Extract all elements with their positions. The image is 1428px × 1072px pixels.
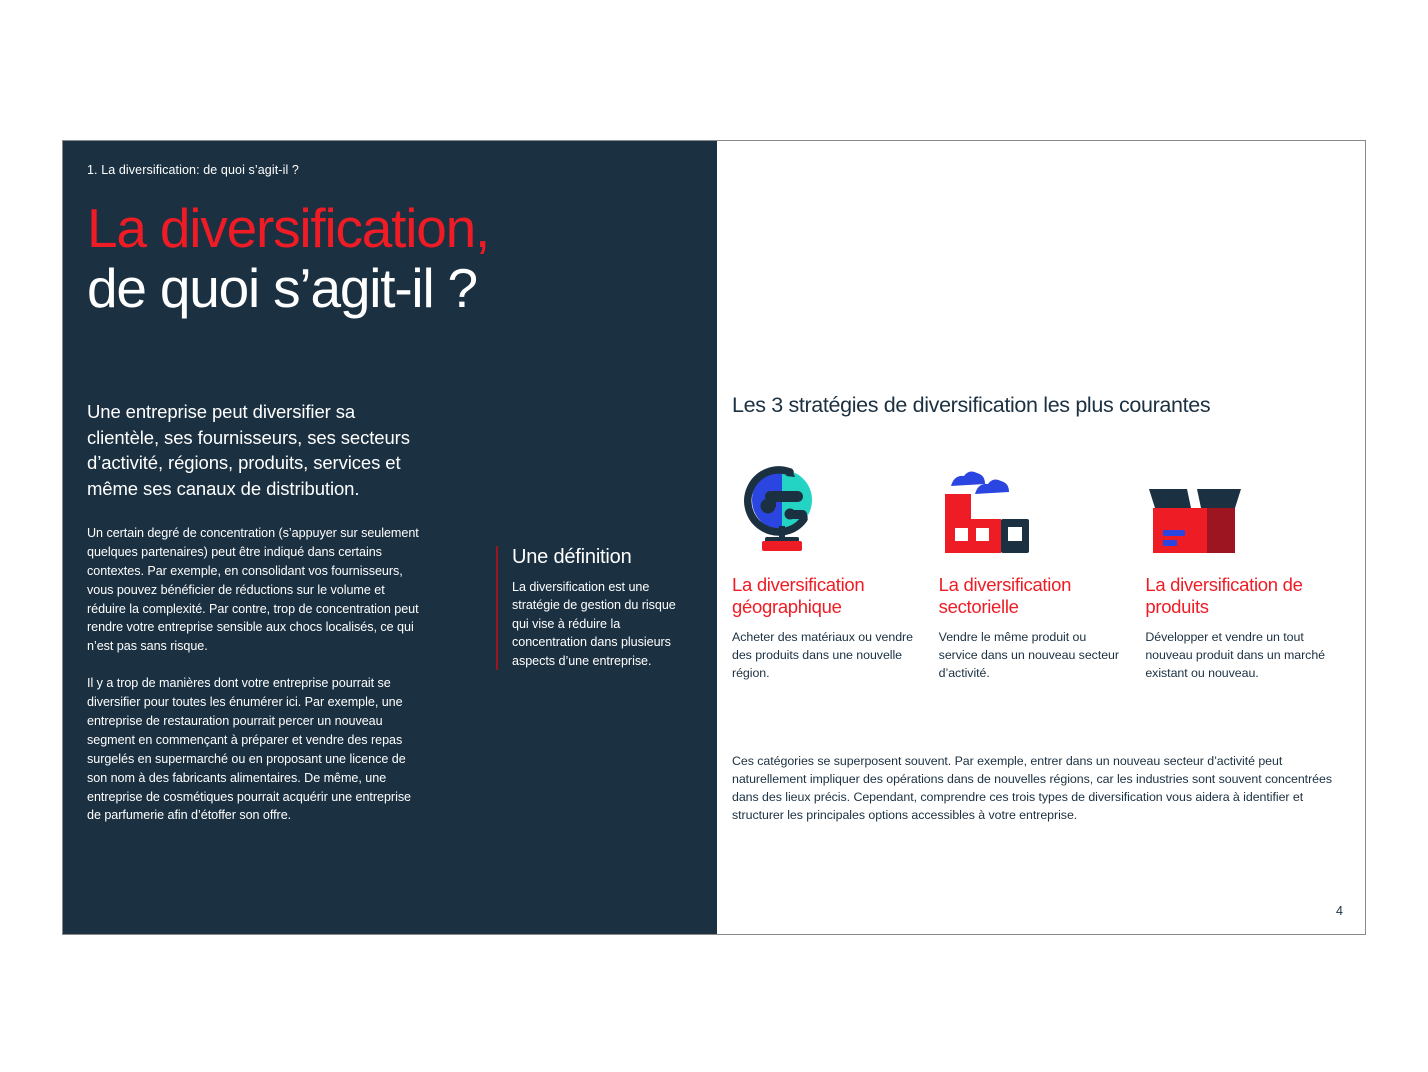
strategy-card-list: La diversification géographique Acheter … bbox=[732, 456, 1352, 683]
strategy-card-title: La diversification géographique bbox=[732, 574, 915, 618]
lead-paragraph: Une entreprise peut diversifier sa clien… bbox=[87, 399, 427, 501]
page-number: 4 bbox=[1336, 904, 1343, 918]
factory-icon bbox=[939, 456, 1122, 556]
body-paragraph-2: Il y a trop de manières dont votre entre… bbox=[87, 674, 422, 825]
strategy-card-title: La diversification de produits bbox=[1145, 574, 1328, 618]
strategy-card-title: La diversification sectorielle bbox=[939, 574, 1122, 618]
globe-icon bbox=[732, 456, 915, 556]
definition-body: La diversification est une stratégie de … bbox=[512, 578, 686, 670]
footnote-paragraph: Ces catégories se superposent souvent. P… bbox=[732, 753, 1337, 825]
left-dark-panel: 1. La diversification: de quoi s’agit-il… bbox=[63, 141, 717, 934]
strategy-card-body: Développer et vendre un tout nouveau pro… bbox=[1145, 629, 1328, 683]
section-eyebrow: 1. La diversification: de quoi s’agit-il… bbox=[87, 163, 299, 177]
page-title: La diversification, de quoi s’agit-il ? bbox=[87, 199, 489, 319]
slide-frame: 1. La diversification: de quoi s’agit-il… bbox=[62, 140, 1366, 935]
definition-callout: Une définition La diversification est un… bbox=[496, 546, 686, 670]
page-title-line-1: La diversification, bbox=[87, 199, 489, 259]
strategy-card-sectorielle: La diversification sectorielle Vendre le… bbox=[939, 456, 1146, 683]
right-white-panel: Les 3 stratégies de diversification les … bbox=[717, 141, 1365, 934]
body-paragraph-1: Un certain degré de concentration (s’app… bbox=[87, 524, 422, 656]
open-box-icon bbox=[1145, 456, 1328, 556]
strategy-card-geographique: La diversification géographique Acheter … bbox=[732, 456, 939, 683]
page-title-line-2: de quoi s’agit-il ? bbox=[87, 259, 489, 319]
strategy-card-produits: La diversification de produits Développe… bbox=[1145, 456, 1352, 683]
definition-heading: Une définition bbox=[512, 546, 686, 569]
strategy-card-body: Vendre le même produit ou service dans u… bbox=[939, 629, 1122, 683]
body-text-column: Un certain degré de concentration (s’app… bbox=[87, 524, 422, 825]
strategies-heading: Les 3 stratégies de diversification les … bbox=[732, 393, 1210, 418]
strategy-card-body: Acheter des matériaux ou vendre des prod… bbox=[732, 629, 915, 683]
